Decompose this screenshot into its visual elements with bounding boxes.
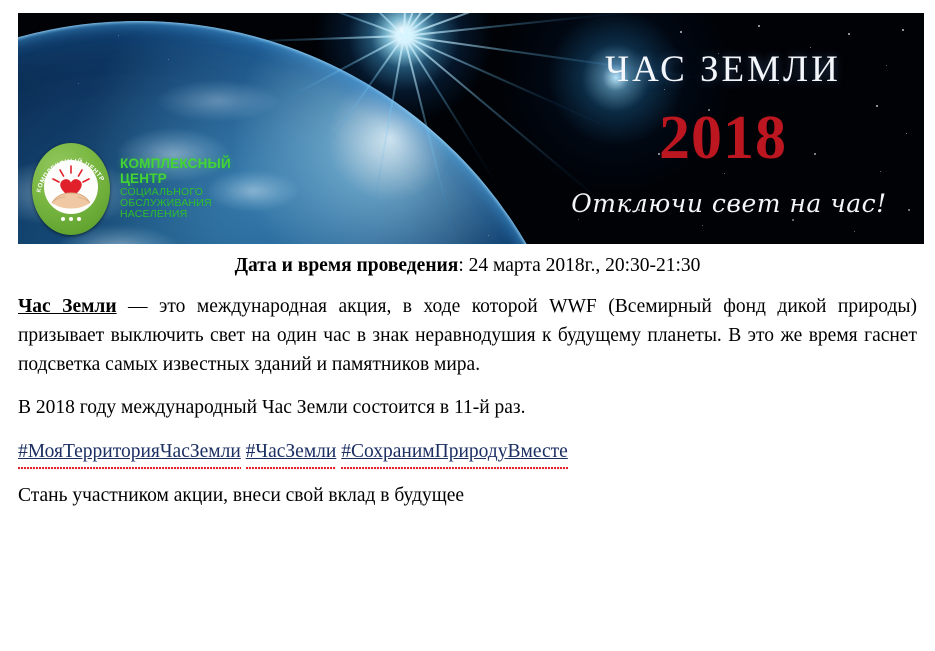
event-date-line: Дата и время проведения: 24 марта 2018г.…: [0, 254, 935, 278]
sun-ray: [303, 13, 405, 37]
event-date-value: : 24 марта 2018г., 20:30-21:30: [458, 255, 700, 276]
heart-in-hand-icon: [44, 160, 98, 214]
sun-ray: [403, 13, 480, 36]
article-body: Дата и время проведения: 24 марта 2018г.…: [0, 244, 935, 510]
banner-slogan: Отключи свет на час!: [564, 191, 894, 216]
sun-ray: [404, 13, 715, 37]
paragraph-intro: Час Земли — это международная акция, в х…: [0, 293, 935, 379]
organisation-logo: КОМПЛЕКСНЫЙ ЦЕНТР КОМПЛЕКСНЫЙ ЦЕНТР СОЦИ…: [32, 143, 231, 235]
logo-line-5: НАСЕЛЕНИЯ: [120, 209, 231, 220]
sun-ray: [404, 13, 653, 37]
sun-ray: [403, 13, 562, 37]
lead-term: Час Земли: [18, 296, 117, 317]
banner-year: 2018: [558, 107, 888, 169]
paragraph-call-to-action: Стань участником акции, внеси свой вклад…: [0, 482, 935, 511]
hashtag-list: #МояТерриторияЧасЗемли #ЧасЗемли #Сохран…: [0, 438, 935, 467]
event-date-label: Дата и время проведения: [235, 255, 459, 276]
paragraph-intro-rest: — это международная акция, в ходе которо…: [18, 296, 917, 374]
logo-emblem-icon: КОМПЛЕКСНЫЙ ЦЕНТР: [32, 143, 110, 235]
paragraph-edition: В 2018 году международный Час Земли сост…: [0, 394, 935, 423]
sun-ray: [403, 13, 569, 37]
logo-wordmark: КОМПЛЕКСНЫЙ ЦЕНТР СОЦИАЛЬНОГО ОБСЛУЖИВАН…: [120, 157, 231, 220]
logo-dots: [32, 208, 110, 226]
hashtag-link-3[interactable]: #СохранимПриродуВместе: [341, 438, 568, 467]
hashtag-link-1[interactable]: #МояТерриторияЧасЗемли: [18, 438, 241, 467]
banner-space-background: ЧАС ЗЕМЛИ 2018 Отключи свет на час!: [18, 13, 924, 244]
sun-ray: [403, 13, 415, 36]
logo-line-2: ЦЕНТР: [120, 172, 231, 187]
hashtag-link-2[interactable]: #ЧасЗемли: [246, 438, 337, 467]
banner-title: ЧАС ЗЕМЛИ: [558, 51, 888, 88]
earth-hour-banner: ЧАС ЗЕМЛИ 2018 Отключи свет на час!: [18, 13, 924, 244]
logo-line-1: КОМПЛЕКСНЫЙ: [120, 157, 231, 172]
logo-inner-disc: [44, 160, 98, 214]
sun-ray: [253, 13, 404, 37]
